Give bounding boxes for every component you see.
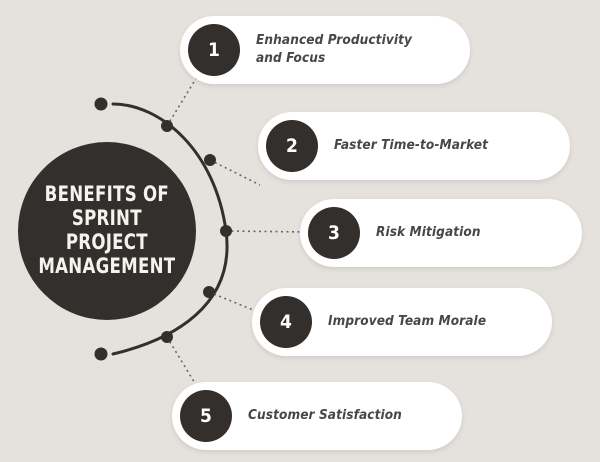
- arc-node-4: [203, 286, 215, 298]
- infographic-canvas: BENEFITS OF SPRINT PROJECT MANAGEMENT 1 …: [0, 0, 600, 462]
- leader-line-2: [210, 160, 260, 185]
- benefit-label-2: Faster Time-to-Market: [334, 137, 544, 155]
- arc-node-5: [161, 331, 173, 343]
- page-title: BENEFITS OF SPRINT PROJECT MANAGEMENT: [38, 183, 175, 279]
- benefit-row-2[interactable]: 2 Faster Time-to-Market: [258, 112, 576, 180]
- arc-endpoint-dot-top: [95, 98, 108, 111]
- benefit-label-1: Enhanced Productivity and Focus: [256, 32, 441, 68]
- benefit-row-5[interactable]: 5 Customer Satisfaction: [172, 382, 468, 450]
- arc-node-2: [204, 154, 216, 166]
- leader-line-4: [209, 292, 258, 312]
- benefit-row-3[interactable]: 3 Risk Mitigation: [300, 199, 588, 267]
- benefit-number-3: 3: [308, 207, 360, 259]
- benefit-number-5: 5: [180, 390, 232, 442]
- center-hub: BENEFITS OF SPRINT PROJECT MANAGEMENT: [18, 142, 196, 320]
- arc-endpoint-dot-bottom: [95, 348, 108, 361]
- benefit-label-4: Improved Team Morale: [328, 313, 528, 331]
- arc-node-3: [220, 225, 232, 237]
- leader-line-3: [226, 231, 307, 232]
- benefit-number-2: 2: [266, 120, 318, 172]
- benefit-label-3: Risk Mitigation: [376, 224, 556, 242]
- benefit-row-4[interactable]: 4 Improved Team Morale: [252, 288, 558, 356]
- benefit-number-1: 1: [188, 24, 240, 76]
- benefit-row-1[interactable]: 1 Enhanced Productivity and Focus: [180, 16, 476, 84]
- arc-node-1: [161, 120, 173, 132]
- benefit-label-5: Customer Satisfaction: [248, 407, 443, 425]
- benefit-number-4: 4: [260, 296, 312, 348]
